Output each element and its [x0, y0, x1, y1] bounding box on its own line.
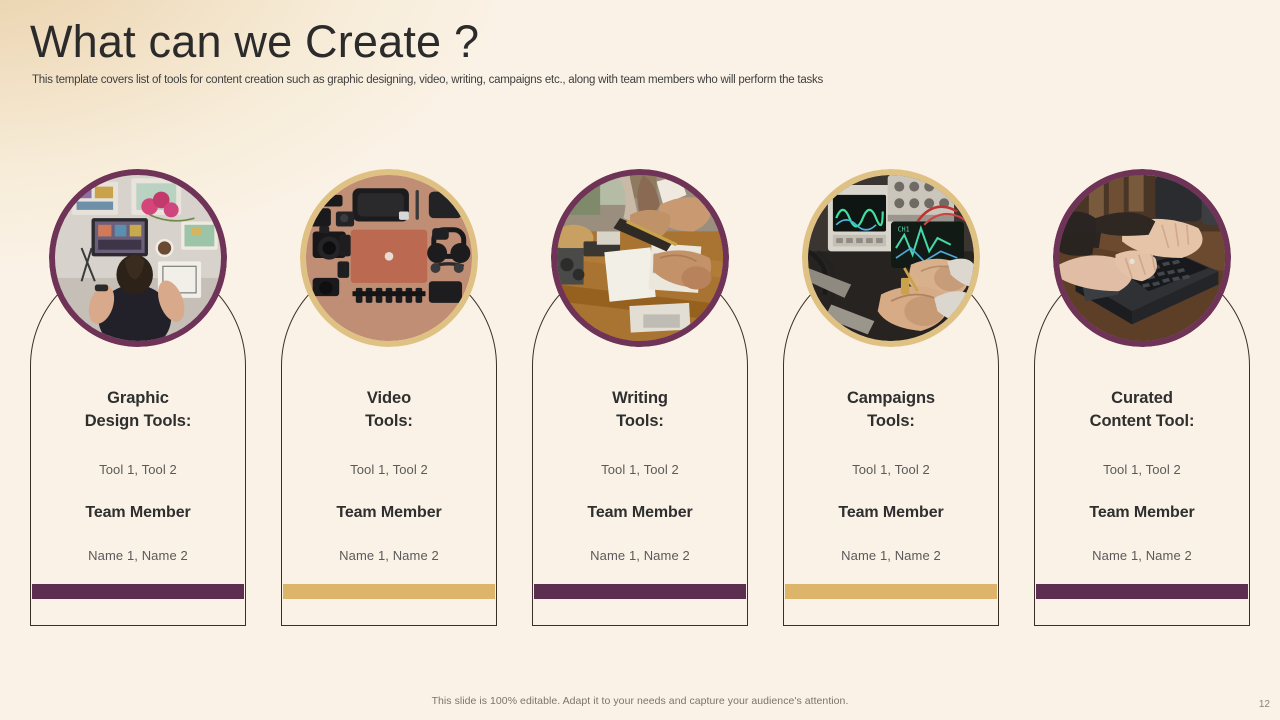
editable-note: This slide is 100% editable. Adapt it to…: [0, 695, 1280, 707]
card-graphic-design[interactable]: Graphic Design Tools: Tool 1, Tool 2 Tea…: [30, 258, 246, 626]
page-title: What can we Create ?: [30, 16, 1230, 68]
card-title: Campaigns Tools:: [847, 387, 935, 434]
card-photo-video: [300, 169, 478, 347]
card-role-label: Team Member: [587, 504, 692, 522]
card-names: Name 1, Name 2: [841, 548, 941, 563]
card-names: Name 1, Name 2: [339, 548, 439, 563]
card-accent-bar: [785, 584, 997, 599]
cards-row: Graphic Design Tools: Tool 1, Tool 2 Tea…: [30, 258, 1250, 626]
card-accent-bar: [283, 584, 495, 599]
card-names: Name 1, Name 2: [88, 548, 188, 563]
card-photo-graphic-design: [49, 169, 227, 347]
page-subtitle: This template covers list of tools for c…: [32, 74, 1230, 86]
card-photo-campaigns: CH1: [802, 169, 980, 347]
card-tools: Tool 1, Tool 2: [852, 462, 930, 477]
card-photo-writing: [551, 169, 729, 347]
electronics-workbench-photo: CH1: [808, 175, 974, 341]
card-names: Name 1, Name 2: [1092, 548, 1192, 563]
card-accent-bar: [1036, 584, 1248, 599]
desk-art-supplies-photo: [55, 175, 221, 341]
card-role-label: Team Member: [838, 504, 943, 522]
slide-canvas: What can we Create ? This template cover…: [0, 0, 1280, 720]
hands-typing-laptop-photo: [1059, 175, 1225, 341]
slide-header: What can we Create ? This template cover…: [30, 16, 1230, 86]
camera-gear-flatlay-photo: [306, 175, 472, 341]
card-tools: Tool 1, Tool 2: [1103, 462, 1181, 477]
card-accent-bar: [32, 584, 244, 599]
card-title: Writing Tools:: [612, 387, 668, 434]
card-title: Video Tools:: [365, 387, 413, 434]
card-tools: Tool 1, Tool 2: [601, 462, 679, 477]
card-names: Name 1, Name 2: [590, 548, 690, 563]
card-video[interactable]: Video Tools: Tool 1, Tool 2 Team Member …: [281, 258, 497, 626]
card-photo-curated-content: [1053, 169, 1231, 347]
page-number: 12: [1259, 699, 1270, 710]
card-role-label: Team Member: [85, 504, 190, 522]
card-writing[interactable]: Writing Tools: Tool 1, Tool 2 Team Membe…: [532, 258, 748, 626]
card-tools: Tool 1, Tool 2: [99, 462, 177, 477]
card-role-label: Team Member: [336, 504, 441, 522]
card-title: Graphic Design Tools:: [85, 387, 192, 434]
card-tools: Tool 1, Tool 2: [350, 462, 428, 477]
svg-text:CH1: CH1: [898, 225, 910, 233]
card-campaigns[interactable]: CH1: [783, 258, 999, 626]
hands-writing-desk-photo: [557, 175, 723, 341]
card-curated-content[interactable]: Curated Content Tool: Tool 1, Tool 2 Tea…: [1034, 258, 1250, 626]
card-role-label: Team Member: [1089, 504, 1194, 522]
card-title: Curated Content Tool:: [1090, 387, 1195, 434]
card-accent-bar: [534, 584, 746, 599]
